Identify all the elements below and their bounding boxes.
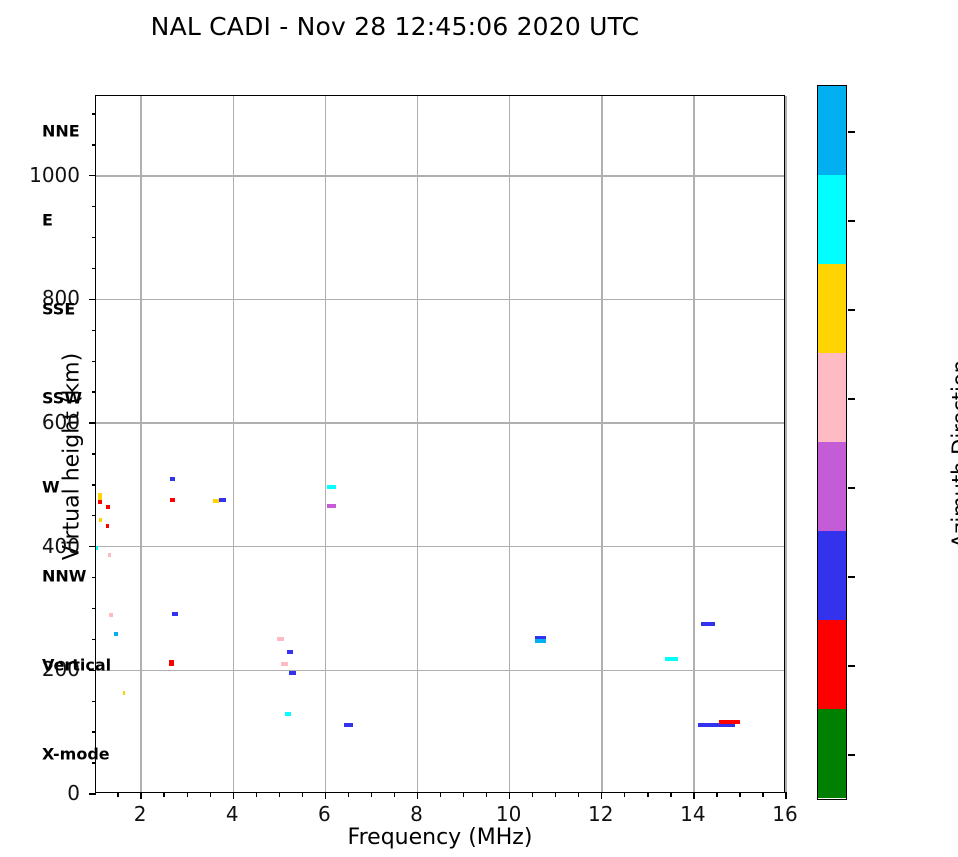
y-tick-minor <box>92 701 97 702</box>
y-tick-minor <box>92 515 97 516</box>
x-tick-minor <box>440 792 441 797</box>
y-tick-minor <box>92 237 97 238</box>
colorbar-band-ssw <box>818 353 846 442</box>
colorbar-band-w <box>818 442 846 531</box>
colorbar-label-e: E <box>42 210 53 229</box>
x-tick <box>325 792 326 799</box>
y-tick-minor <box>92 577 97 578</box>
data-point <box>96 546 98 550</box>
colorbar-tick <box>848 487 855 488</box>
colorbar-label-w: W <box>42 478 60 497</box>
y-tick-minor <box>92 361 97 362</box>
data-point <box>219 498 227 502</box>
x-gridline <box>509 96 511 792</box>
data-point <box>327 504 335 508</box>
data-point <box>665 657 677 661</box>
data-point <box>172 612 178 616</box>
y-tick-minor <box>92 453 97 454</box>
y-tick <box>89 793 96 794</box>
x-tick-minor <box>670 792 671 797</box>
x-tick-minor <box>555 792 556 797</box>
x-gridline <box>785 96 787 792</box>
data-point <box>535 639 547 643</box>
x-tick-minor <box>716 792 717 797</box>
y-tick-minor <box>92 206 97 207</box>
colorbar-tick <box>848 220 855 221</box>
x-tick-label: 12 <box>588 802 613 826</box>
data-point <box>701 622 715 626</box>
chart-title: NAL CADI - Nov 28 12:45:06 2020 UTC <box>0 12 790 41</box>
data-point <box>98 500 101 504</box>
x-gridline <box>601 96 603 792</box>
colorbar-band-sse <box>818 264 846 353</box>
x-tick-minor <box>624 792 625 797</box>
colorbar-label-x-mode: X-mode <box>42 745 110 764</box>
data-point <box>170 498 176 502</box>
colorbar-label-nnw: NNW <box>42 567 86 586</box>
x-tick-label: 2 <box>134 802 147 826</box>
colorbar-tick <box>848 665 855 666</box>
x-tick <box>785 792 786 799</box>
x-tick-minor <box>256 792 257 797</box>
x-tick-minor <box>163 792 164 797</box>
colorbar-tick <box>848 309 855 310</box>
x-axis-title: Frequency (MHz) <box>95 825 785 850</box>
colorbar-band-nne <box>818 86 846 175</box>
y-gridline <box>96 422 784 424</box>
y-gridline <box>96 670 784 672</box>
y-tick <box>89 175 96 176</box>
x-tick <box>417 792 418 799</box>
x-gridline <box>693 96 695 792</box>
data-point <box>108 553 111 557</box>
x-tick-minor <box>532 792 533 797</box>
y-tick-label: 600 <box>0 410 80 434</box>
x-tick-minor <box>762 792 763 797</box>
x-tick-minor <box>486 792 487 797</box>
data-point <box>170 477 176 481</box>
colorbar-tick <box>848 131 855 132</box>
colorbar-band-e <box>818 175 846 264</box>
colorbar-band-nnw <box>818 531 846 620</box>
y-tick-minor <box>92 268 97 269</box>
x-tick-minor <box>187 792 188 797</box>
x-tick-label: 6 <box>318 802 331 826</box>
y-tick-minor <box>92 639 97 640</box>
colorbar-tick <box>848 576 855 577</box>
y-tick <box>89 546 96 547</box>
y-tick-minor <box>92 731 97 732</box>
data-point <box>169 662 175 666</box>
x-tick-minor <box>463 792 464 797</box>
colorbar-tick <box>848 754 855 755</box>
x-tick-label: 10 <box>496 802 521 826</box>
colorbar-band-vertical <box>818 620 846 709</box>
x-tick-label: 4 <box>226 802 239 826</box>
x-gridline <box>140 96 142 792</box>
colorbar-label-ssw: SSW <box>42 388 82 407</box>
y-gridline <box>96 299 784 301</box>
data-point <box>344 723 353 727</box>
x-tick-minor <box>117 792 118 797</box>
x-gridline <box>417 96 419 792</box>
data-point <box>123 691 126 695</box>
data-point <box>106 524 109 528</box>
colorbar <box>817 85 847 800</box>
x-tick-minor <box>279 792 280 797</box>
x-tick <box>140 792 141 799</box>
x-tick-minor <box>739 792 740 797</box>
y-tick <box>89 299 96 300</box>
y-tick-label: 0 <box>0 781 80 805</box>
data-point <box>281 662 288 666</box>
x-tick-label: 14 <box>680 802 705 826</box>
data-point <box>285 712 291 716</box>
x-tick-label: 16 <box>772 802 797 826</box>
x-tick-minor <box>394 792 395 797</box>
y-tick-minor <box>92 330 97 331</box>
y-tick-minor <box>92 608 97 609</box>
x-tick-minor <box>578 792 579 797</box>
x-tick-minor <box>210 792 211 797</box>
x-tick <box>509 792 510 799</box>
data-point <box>106 505 111 509</box>
x-gridline <box>325 96 327 792</box>
y-tick-minor <box>92 391 97 392</box>
x-tick-minor <box>302 792 303 797</box>
y-tick-label: 400 <box>0 534 80 558</box>
data-point <box>289 671 295 675</box>
colorbar-label-sse: SSE <box>42 299 75 318</box>
colorbar-label-vertical: Vertical <box>42 656 111 675</box>
x-tick-minor <box>348 792 349 797</box>
data-point <box>277 637 284 641</box>
x-tick <box>601 792 602 799</box>
colorbar-band-x-mode <box>818 709 846 798</box>
y-tick-label: 1000 <box>0 163 80 187</box>
y-gridline <box>96 175 784 177</box>
x-tick-minor <box>647 792 648 797</box>
x-tick-label: 8 <box>410 802 423 826</box>
y-tick-minor <box>92 144 97 145</box>
y-tick-minor <box>92 484 97 485</box>
data-point <box>287 650 293 654</box>
data-point <box>719 720 740 724</box>
colorbar-title: Azimuth Direction <box>948 284 958 624</box>
x-tick-minor <box>371 792 372 797</box>
data-point <box>99 518 101 522</box>
x-gridline <box>233 96 235 792</box>
x-tick <box>233 792 234 799</box>
y-gridline <box>96 546 784 548</box>
x-tick <box>693 792 694 799</box>
plot-area <box>95 95 785 793</box>
y-tick <box>89 422 96 423</box>
data-point <box>327 485 335 489</box>
y-tick-minor <box>92 113 97 114</box>
data-point <box>109 613 113 617</box>
colorbar-tick <box>848 398 855 399</box>
colorbar-label-nne: NNE <box>42 121 80 140</box>
y-axis-title: Virtual height (km) <box>60 307 85 607</box>
data-point <box>114 632 118 636</box>
